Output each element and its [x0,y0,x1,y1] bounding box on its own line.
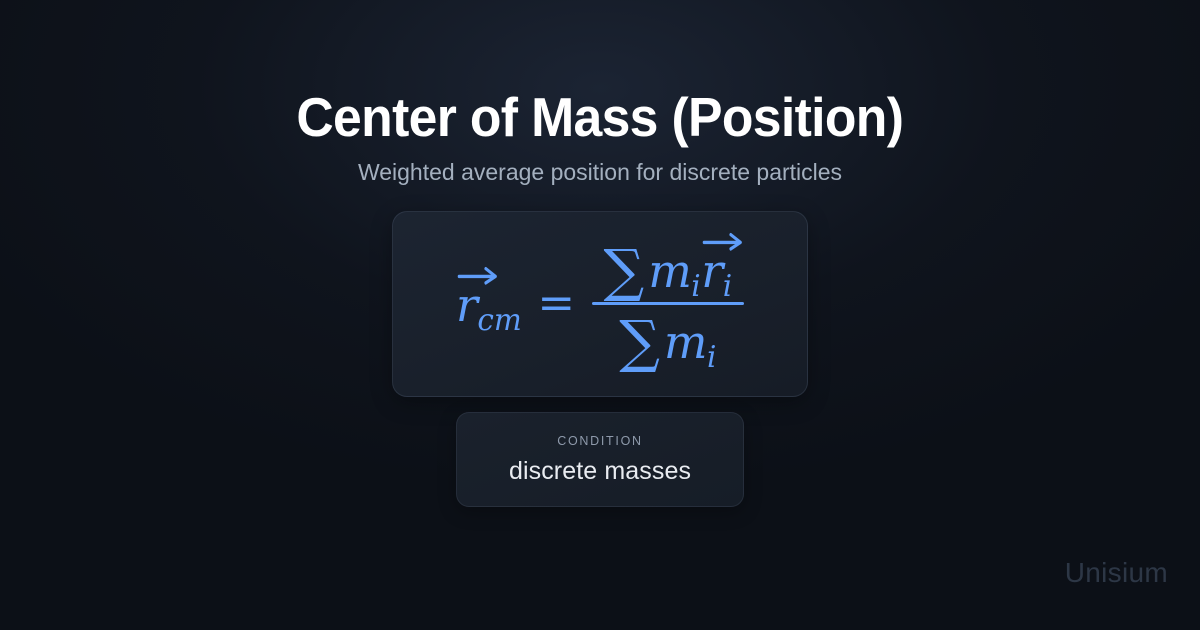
fraction-numerator: ∑ m i r [598,240,739,302]
denominator-m-subscript: i [707,343,716,372]
numerator-term-m: m i [648,248,701,294]
watermark-unisium: Unisium [1065,557,1168,589]
numerator-m-subscript: i [691,272,700,301]
condition-label: CONDITION [557,434,642,448]
denominator-term-m: m i [664,319,717,365]
vector-r-cm: r [456,280,478,328]
fraction-denominator: ∑ m i [613,305,723,368]
numerator-r-symbol: r [701,244,723,298]
numerator-m-symbol: m [648,248,692,294]
formula-expression: r cm = ∑ m i [456,240,744,368]
formula-card: r cm = ∑ m i [392,211,808,397]
page-subtitle: Weighted average position for discrete p… [358,159,842,186]
summation-icon-numerator: ∑ [604,243,645,300]
formula-fraction: ∑ m i r [592,240,744,368]
condition-value: discrete masses [509,457,691,486]
denominator-m-symbol: m [664,319,708,365]
lhs-symbol: r [456,278,478,332]
lhs-subscript: cm [477,306,521,335]
numerator-r-subscript: i [723,272,732,301]
numerator-term-r: r i [701,246,732,294]
vector-r-i: r [701,246,723,294]
equals-sign: = [537,280,575,325]
slide-root: Center of Mass (Position) Weighted avera… [0,0,1200,630]
condition-card: CONDITION discrete masses [456,412,744,507]
summation-icon-denominator: ∑ [619,314,660,371]
formula-lhs: r cm [456,280,522,328]
page-title: Center of Mass (Position) [297,88,904,146]
